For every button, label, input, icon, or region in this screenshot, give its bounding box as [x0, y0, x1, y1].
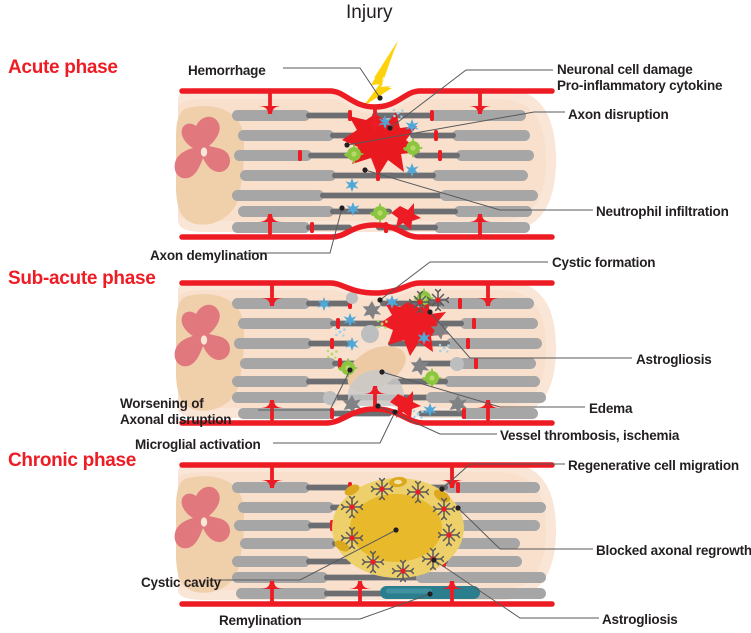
label-regenerative-cell-migration: Regenerative cell migration — [568, 458, 739, 473]
chronic-phase-cord — [175, 462, 599, 619]
label-astrogliosis-chronic: Astrogliosis — [602, 612, 678, 627]
label-neuronal-cell-damage: Neuronal cell damage Pro-inflammatory cy… — [557, 62, 722, 94]
acute-phase-cord — [175, 68, 593, 253]
label-worsening-axonal-disruption: Worsening of Axonal disruption — [120, 396, 231, 428]
label-blocked-axonal-regrowth: Blocked axonal regrowth — [596, 543, 751, 558]
label-cystic-cavity: Cystic cavity — [141, 575, 221, 590]
label-axon-demylination: Axon demylination — [150, 248, 267, 263]
phase-label-acute: Acute phase — [8, 57, 118, 79]
label-hemorrhage: Hemorrhage — [188, 63, 266, 78]
gray-matter-acute — [175, 106, 244, 225]
label-cystic-formation: Cystic formation — [552, 255, 655, 270]
diagram-canvas: Injury Acute phase Sub-acute phase Chron… — [0, 0, 751, 633]
label-vessel-thrombosis: Vessel thrombosis, ischemia — [500, 428, 679, 443]
label-neutrophil-infiltration: Neutrophil infiltration — [596, 204, 729, 219]
label-axon-disruption: Axon disruption — [568, 107, 669, 122]
phase-label-sub-acute: Sub-acute phase — [8, 268, 156, 290]
phase-label-chronic: Chronic phase — [8, 450, 136, 472]
subacute-phase-cord — [175, 262, 632, 443]
label-astrogliosis-subacute: Astrogliosis — [636, 352, 712, 367]
label-microglial-activation: Microglial activation — [135, 437, 261, 452]
page-title: Injury — [346, 2, 392, 24]
gray-matter-subacute — [175, 294, 244, 411]
label-remylination: Remylination — [219, 613, 301, 628]
label-edema: Edema — [589, 401, 632, 416]
spinal-cord-injury-diagram — [0, 0, 751, 633]
